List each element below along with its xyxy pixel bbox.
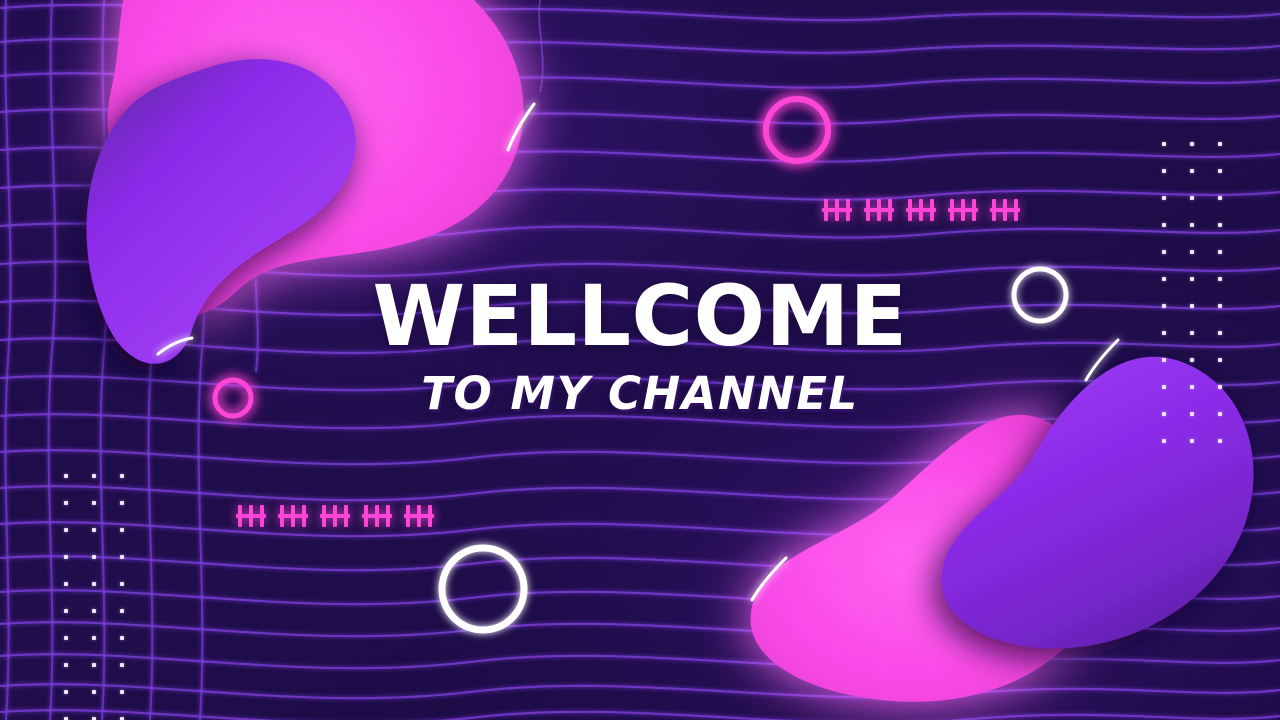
grid-dot — [64, 636, 68, 640]
grid-dot — [64, 555, 68, 559]
hatch-tick — [375, 505, 379, 527]
hatch-group — [864, 199, 894, 221]
grid-dot — [64, 663, 68, 667]
welcome-banner: WELLCOME TO MY CHANNEL — [0, 0, 1280, 720]
hatch-group — [278, 505, 308, 527]
dot-grid-right — [1160, 140, 1224, 445]
hatch-tick — [333, 505, 337, 527]
grid-dot — [1190, 169, 1194, 173]
arc-bottom-left — [752, 558, 786, 600]
hatch-group — [320, 505, 350, 527]
hatch-group — [906, 199, 936, 221]
grid-dot — [92, 555, 96, 559]
grid-dot — [120, 663, 124, 667]
grid-dot — [1190, 439, 1194, 443]
grid-dot — [1162, 358, 1166, 362]
grid-dot — [120, 636, 124, 640]
grid-dot — [92, 609, 96, 613]
arc-top-center — [508, 104, 534, 150]
grid-dot — [120, 582, 124, 586]
hatch-group — [990, 199, 1020, 221]
grid-dot — [120, 609, 124, 613]
hatch-tick — [302, 505, 306, 527]
grid-dot — [1162, 439, 1166, 443]
hatch-tick — [280, 505, 284, 527]
grid-dot — [92, 663, 96, 667]
hatch-tick — [249, 505, 253, 527]
grid-dot — [1190, 250, 1194, 254]
hatch-tick — [260, 505, 264, 527]
hatch-tick — [992, 199, 996, 221]
grid-dot — [1162, 412, 1166, 416]
hatch-tick — [344, 505, 348, 527]
grid-dot — [1190, 358, 1194, 362]
grid-dot — [1218, 358, 1222, 362]
hatch-tick — [1003, 199, 1007, 221]
hatch-tick — [846, 199, 850, 221]
accent-shapes — [0, 0, 1280, 720]
hatch-tick — [824, 199, 828, 221]
grid-dot — [1190, 196, 1194, 200]
hatch-tick — [1014, 199, 1018, 221]
grid-dot — [64, 528, 68, 532]
hatch-tick — [930, 199, 934, 221]
grid-dot — [64, 501, 68, 505]
grid-dot — [1218, 250, 1222, 254]
grid-dot — [120, 501, 124, 505]
grid-dot — [1162, 169, 1166, 173]
hatch-tick — [428, 505, 432, 527]
hatch-tick — [919, 199, 923, 221]
grid-dot — [1218, 223, 1222, 227]
grid-dot — [1162, 331, 1166, 335]
hatch-group — [404, 505, 434, 527]
ring-white-right-icon — [1014, 269, 1066, 321]
grid-dot — [1218, 304, 1222, 308]
grid-dot — [120, 528, 124, 532]
hatch-tick — [291, 505, 295, 527]
grid-dot — [1190, 331, 1194, 335]
ring-pink-top-icon — [766, 99, 828, 161]
grid-dot — [1190, 142, 1194, 146]
grid-dot — [92, 474, 96, 478]
hatch-tick — [386, 505, 390, 527]
grid-dot — [92, 582, 96, 586]
grid-dot — [1218, 196, 1222, 200]
hatch-tick — [888, 199, 892, 221]
grid-dot — [1162, 277, 1166, 281]
hatch-tick — [238, 505, 242, 527]
grid-dot — [1162, 196, 1166, 200]
hatch-row-top — [822, 199, 1020, 221]
hatch-group — [236, 505, 266, 527]
hatch-tick — [835, 199, 839, 221]
grid-dot — [92, 636, 96, 640]
grid-dot — [92, 528, 96, 532]
grid-dot — [64, 582, 68, 586]
grid-dot — [64, 690, 68, 694]
grid-dot — [64, 474, 68, 478]
arc-right-upper — [1086, 340, 1118, 380]
grid-dot — [92, 690, 96, 694]
grid-dot — [1190, 385, 1194, 389]
grid-dot — [1190, 277, 1194, 281]
grid-dot — [1218, 169, 1222, 173]
grid-dot — [1218, 439, 1222, 443]
grid-dot — [1162, 385, 1166, 389]
grid-dot — [1218, 412, 1222, 416]
hatch-tick — [972, 199, 976, 221]
grid-dot — [1162, 223, 1166, 227]
grid-dot — [1218, 142, 1222, 146]
arc-left-mid — [158, 338, 192, 354]
hatch-tick — [322, 505, 326, 527]
hatch-tick — [950, 199, 954, 221]
hatch-group — [822, 199, 852, 221]
grid-dot — [1190, 412, 1194, 416]
grid-dot — [1162, 250, 1166, 254]
hatch-tick — [417, 505, 421, 527]
grid-dot — [120, 690, 124, 694]
grid-dot — [1162, 142, 1166, 146]
grid-dot — [1218, 331, 1222, 335]
hatch-tick — [908, 199, 912, 221]
hatch-group — [948, 199, 978, 221]
grid-dot — [120, 555, 124, 559]
hatch-tick — [877, 199, 881, 221]
hatch-row-bottom — [236, 505, 434, 527]
hatch-tick — [406, 505, 410, 527]
hatch-group — [362, 505, 392, 527]
ring-pink-left-icon — [215, 380, 251, 416]
grid-dot — [1218, 385, 1222, 389]
ring-white-bottom-icon — [442, 548, 524, 630]
grid-dot — [1218, 277, 1222, 281]
dot-grid-left — [62, 472, 126, 720]
hatch-tick — [866, 199, 870, 221]
grid-dot — [1190, 223, 1194, 227]
grid-dot — [92, 501, 96, 505]
grid-dot — [120, 474, 124, 478]
grid-dot — [1162, 304, 1166, 308]
hatch-tick — [961, 199, 965, 221]
grid-dot — [1190, 304, 1194, 308]
grid-dot — [64, 609, 68, 613]
hatch-tick — [364, 505, 368, 527]
